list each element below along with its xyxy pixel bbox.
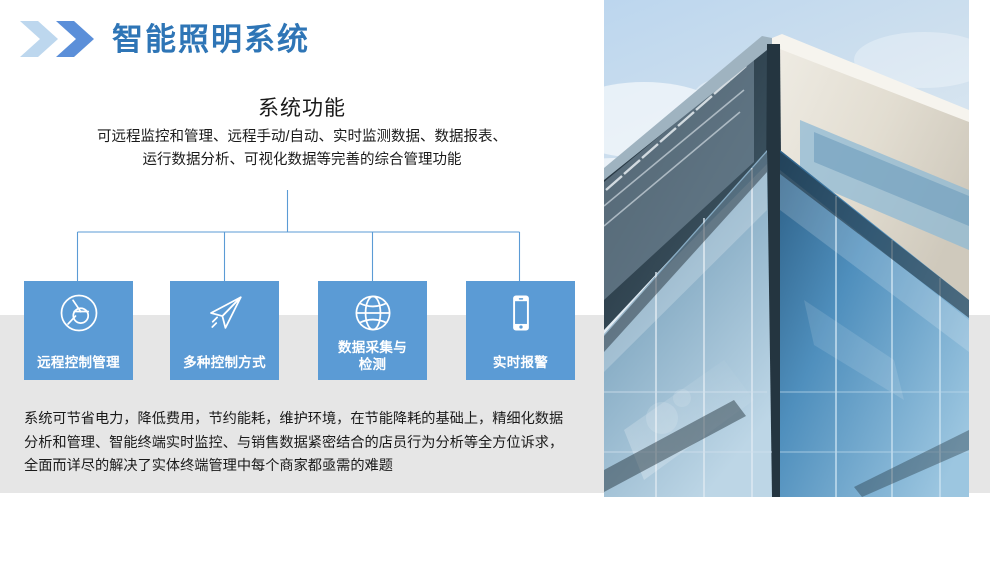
feature-card-data-collection[interactable]: 数据采集与 检测 (318, 281, 427, 380)
feature-card-remote-control[interactable]: 远程控制管理 (24, 281, 133, 380)
summary-paragraph: 系统可节省电力，降低费用，节约能耗，维护环境，在节能降耗的基础上，精细化数据分析… (24, 408, 569, 479)
chevron-right-dark-icon (54, 19, 98, 59)
slide-title-bar: 智能照明系统 (18, 14, 310, 64)
feature-card-label: 实时报警 (466, 354, 575, 371)
section-heading: 系统功能 (0, 92, 604, 122)
building-photo (604, 0, 969, 497)
connector-tree (0, 190, 604, 285)
feature-card-realtime-alarm[interactable]: 实时报警 (466, 281, 575, 380)
paper-plane-icon (204, 292, 246, 334)
chevron-group (18, 19, 98, 59)
feature-card-label: 远程控制管理 (24, 354, 133, 371)
feature-card-label-line1: 数据采集与 (318, 339, 427, 356)
smartphone-icon (500, 292, 542, 334)
slide-canvas: 智能照明系统 系统功能 可远程监控和管理、远程手动/自动、实时监测数据、数据报表… (0, 0, 1000, 563)
feature-card-label: 数据采集与 检测 (318, 339, 427, 373)
feature-card-label: 多种控制方式 (170, 354, 279, 371)
feature-card-label-line2: 检测 (318, 356, 427, 373)
globe-icon (352, 292, 394, 334)
chrome-circle-icon (58, 292, 100, 334)
gray-band-right (969, 315, 990, 493)
section-description: 可远程监控和管理、远程手动/自动、实时监测数据、数据报表、运行数据分析、可视化数… (92, 126, 512, 172)
feature-card-control-methods[interactable]: 多种控制方式 (170, 281, 279, 380)
page-title: 智能照明系统 (112, 24, 310, 55)
